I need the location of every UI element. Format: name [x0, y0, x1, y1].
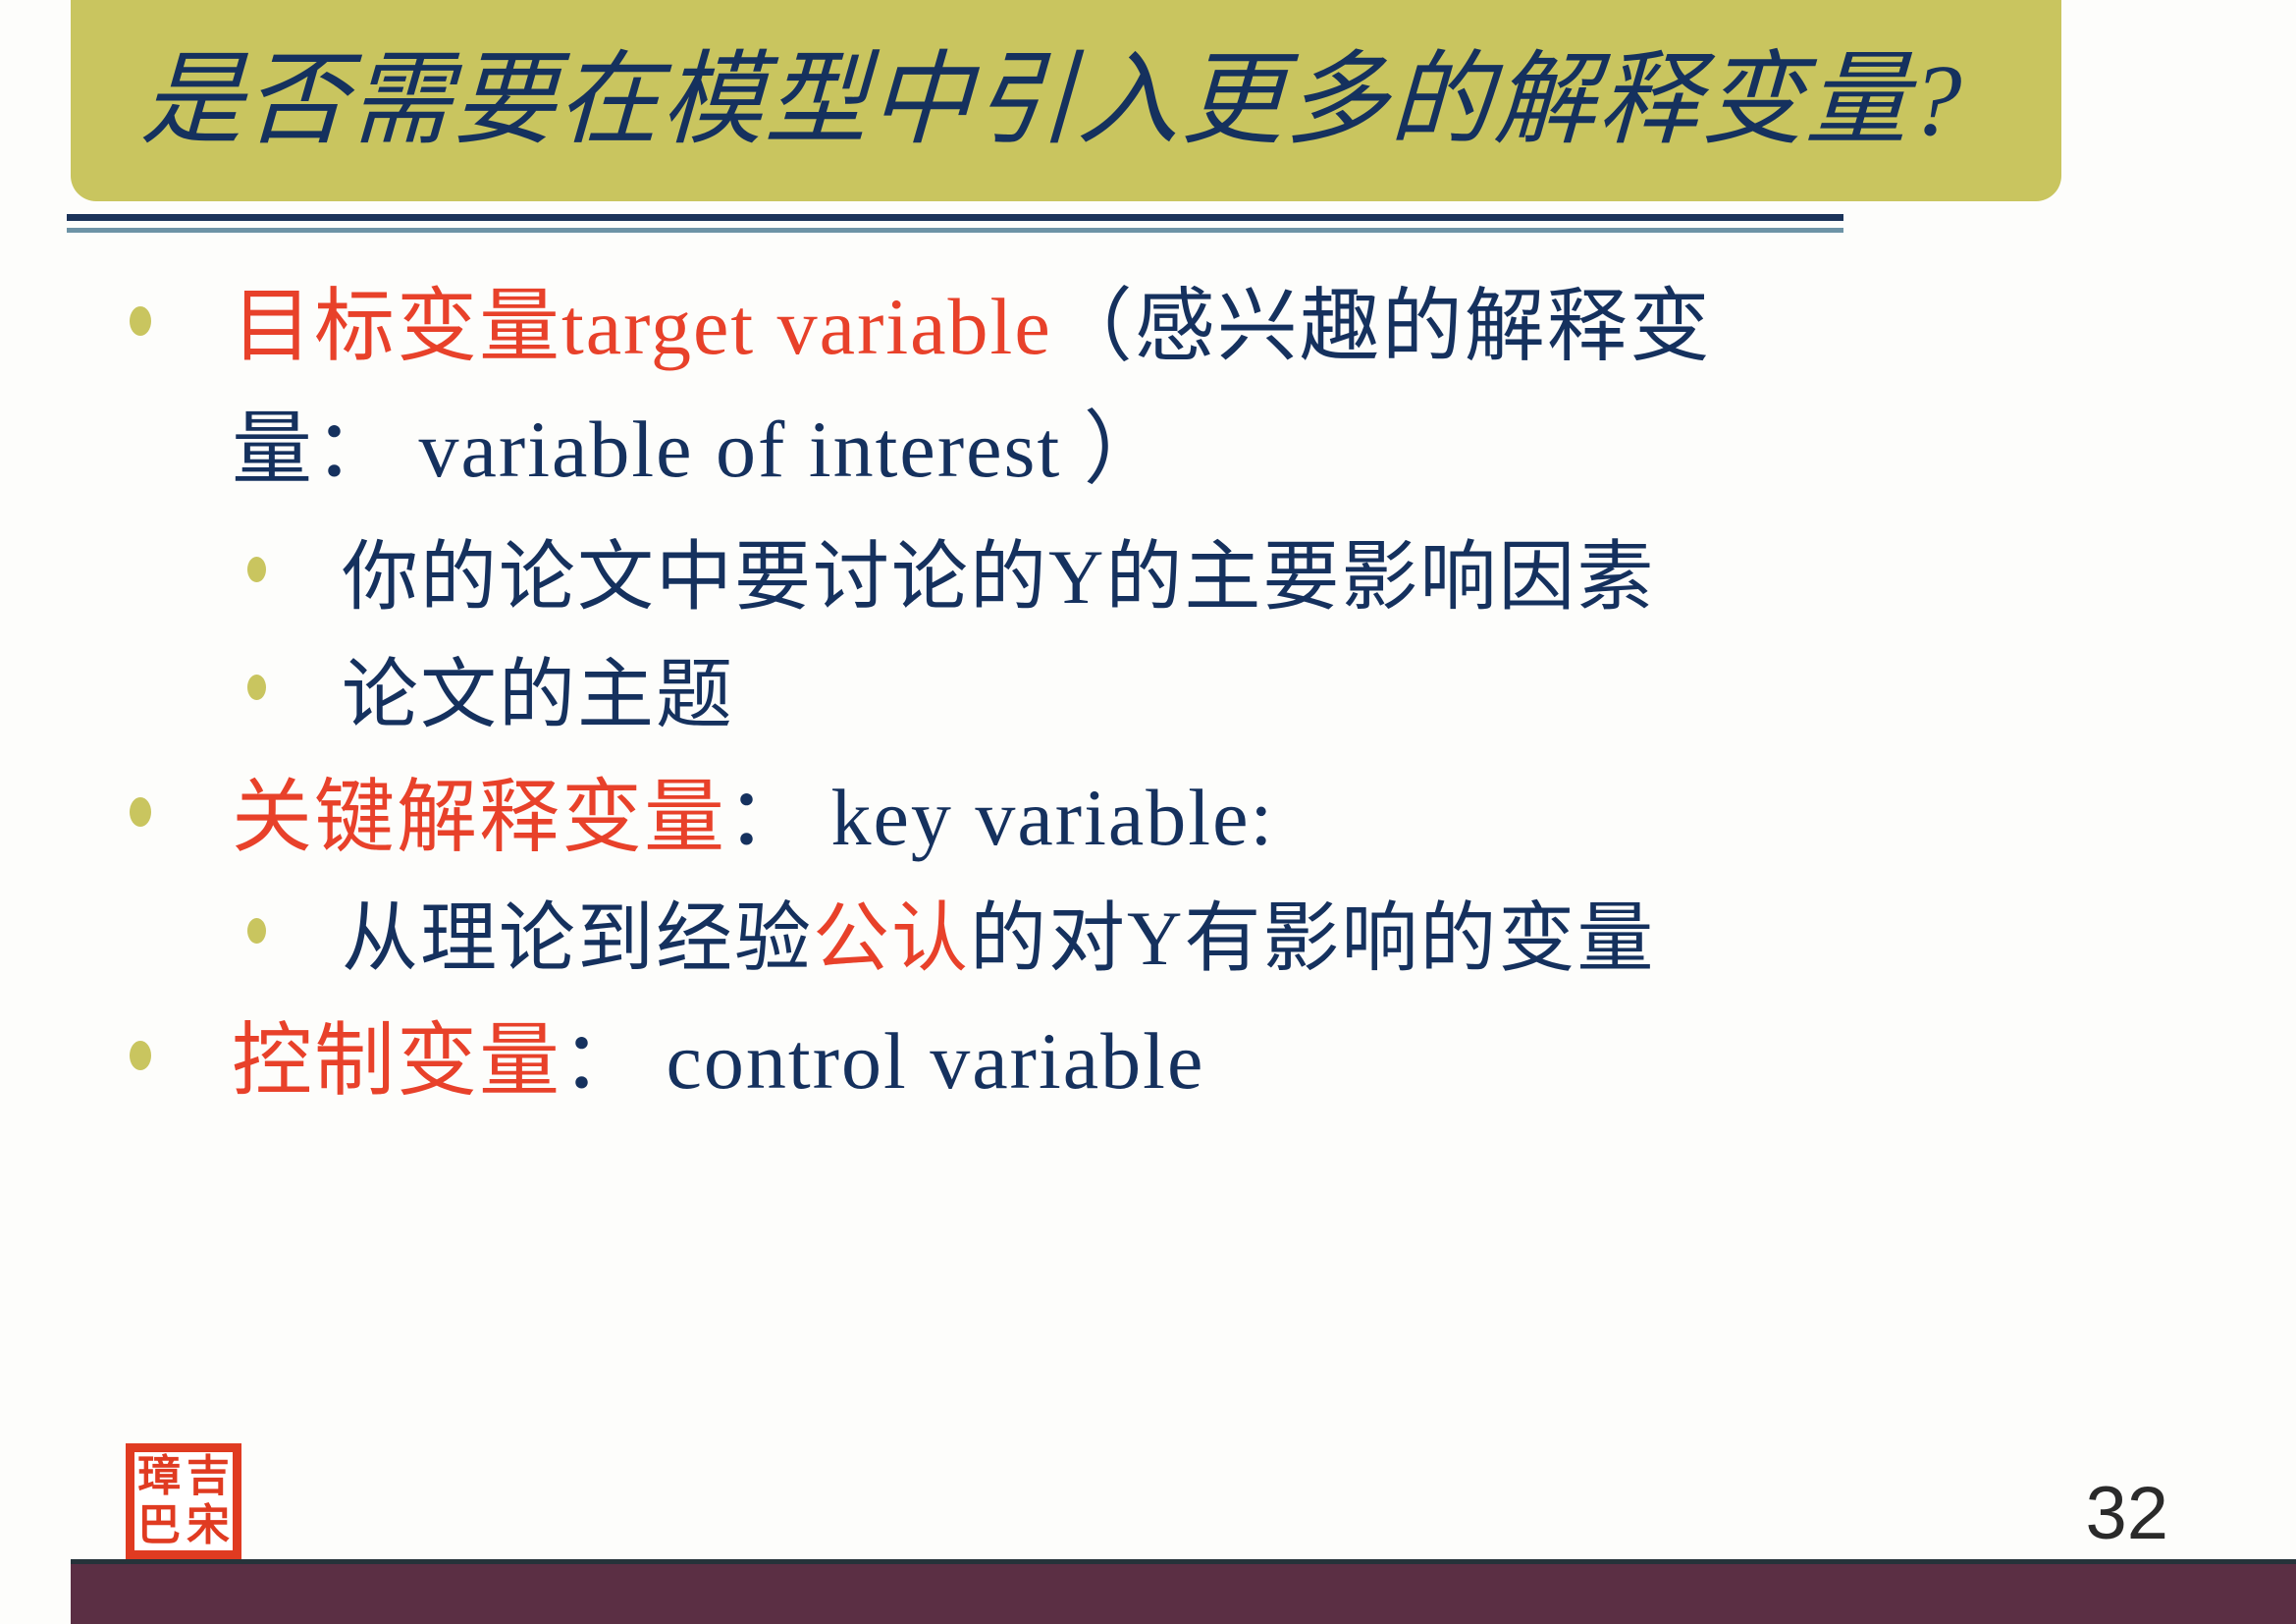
bullet-red-term: 控制变量 — [232, 1016, 561, 1106]
page-number: 32 — [2085, 1471, 2168, 1556]
footer-bar — [0, 1559, 2296, 1624]
sub-bullet-red-term: 公认 — [813, 895, 970, 981]
bullet-navy-text: ： key variable: — [726, 773, 1274, 862]
bullet-dot-icon — [247, 918, 269, 947]
sub-bullet-text: 从理论到经验公认的对Y有影响的变量 — [342, 889, 1655, 988]
slide-body: 目标变量target variable（感兴趣的解释变 量： variable … — [0, 275, 2296, 1542]
bullet-text: 控制变量： control variable — [232, 1009, 1204, 1114]
bullet-red-term: 目标变量target variable — [232, 282, 1052, 371]
seal-stamp-icon: 璋 吉 巴 宋 — [126, 1443, 241, 1559]
seal-char-3: 巴 — [134, 1501, 184, 1550]
sub-bullet-paper-theme: 论文的主题 — [0, 645, 2296, 744]
bullet-text: 目标变量target variable（感兴趣的解释变 — [232, 275, 1712, 380]
bullet-control-variable: 控制变量： control variable — [0, 1009, 2296, 1114]
sub-bullet-recognized-variable: 从理论到经验公认的对Y有影响的变量 — [0, 889, 2296, 988]
sub-bullet-pre-text: 从理论到经验 — [342, 895, 813, 981]
seal-char-1: 璋 — [134, 1452, 184, 1501]
sub-bullet-post-text: 的对Y有影响的变量 — [970, 895, 1655, 981]
bullet-dot-icon — [130, 797, 155, 831]
seal-char-2: 吉 — [184, 1452, 233, 1501]
bullet-target-variable-continuation: 量： variable of interest ） — [232, 398, 2296, 503]
bullet-dot-icon — [247, 557, 269, 586]
footer-bar-left-notch — [0, 1559, 71, 1624]
title-band: 是否需要在模型中引入更多的解释变量? — [71, 0, 2061, 201]
bullet-navy-text: （感兴趣的解释变 — [1052, 282, 1712, 371]
bullet-text: 关键解释变量： key variable: — [232, 766, 1274, 871]
divider-navy — [67, 214, 1843, 221]
seal-char-4: 宋 — [184, 1501, 233, 1550]
divider-steel — [67, 228, 1843, 233]
sub-bullet-main-factors: 你的论文中要讨论的Y的主要影响因素 — [0, 527, 2296, 626]
bullet-red-term: 关键解释变量 — [232, 773, 726, 862]
bullet-dot-icon — [247, 675, 269, 704]
bullet-key-variable: 关键解释变量： key variable: — [0, 766, 2296, 871]
sub-bullet-text: 论文的主题 — [342, 645, 734, 744]
sub-bullet-text: 你的论文中要讨论的Y的主要影响因素 — [342, 527, 1655, 626]
bullet-navy-text: ： control variable — [561, 1016, 1204, 1106]
bullet-dot-icon — [130, 306, 155, 340]
page-title: 是否需要在模型中引入更多的解释变量? — [69, 47, 1965, 154]
bullet-target-variable: 目标变量target variable（感兴趣的解释变 — [0, 275, 2296, 380]
bullet-dot-icon — [130, 1041, 155, 1074]
